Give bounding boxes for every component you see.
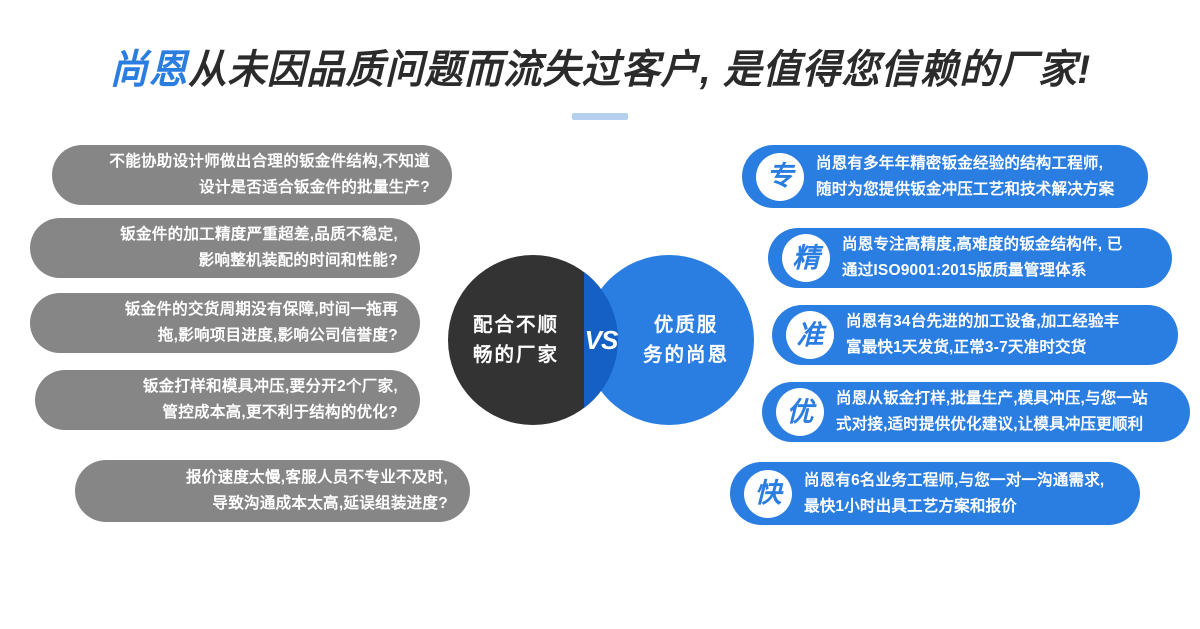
problem-pill-5: 报价速度太慢,客服人员不专业不及时, 导致沟通成本太高,延误组装进度? bbox=[75, 460, 470, 522]
vs-label: VS bbox=[584, 255, 618, 425]
problem-pill-2-line1: 钣金件的加工精度严重超差,品质不稳定, bbox=[120, 222, 398, 248]
problem-pill-5-text: 报价速度太慢,客服人员不专业不及时, 导致沟通成本太高,延误组装进度? bbox=[186, 465, 448, 517]
problem-pill-1: 不能协助设计师做出合理的钣金件结构,不知道 设计是否适合钣金件的批量生产? bbox=[52, 145, 452, 205]
advantage-circle-line1: 优质服 bbox=[654, 310, 719, 340]
problem-pill-5-line2: 导致沟通成本太高,延误组装进度? bbox=[186, 491, 448, 517]
advantage-pill-5: 快 尚恩有6名业务工程师,与您一对一沟通需求, 最快1小时出具工艺方案和报价 bbox=[730, 462, 1140, 525]
page-title-rest: 从未因品质问题而流失过客户, 是值得您信赖的厂家! bbox=[188, 48, 1091, 92]
advantage-badge-kuai-icon: 快 bbox=[744, 470, 792, 518]
advantage-pill-1-line2: 随时为您提供钣金冲压工艺和技术解决方案 bbox=[816, 177, 1114, 203]
poster-canvas: 尚恩从未因品质问题而流失过客户, 是值得您信赖的厂家! 不能协助设计师做出合理的… bbox=[0, 0, 1200, 629]
problem-pill-3-line1: 钣金件的交货周期没有保障,时间一拖再 bbox=[125, 297, 398, 323]
problem-pill-5-line1: 报价速度太慢,客服人员不专业不及时, bbox=[186, 465, 448, 491]
problem-pill-3: 钣金件的交货周期没有保障,时间一拖再 拖,影响项目进度,影响公司信誉度? bbox=[30, 293, 420, 353]
problem-pill-4-line1: 钣金打样和模具冲压,要分开2个厂家, bbox=[143, 374, 398, 400]
advantage-pill-1-text: 尚恩有多年年精密钣金经验的结构工程师, 随时为您提供钣金冲压工艺和技术解决方案 bbox=[816, 151, 1114, 203]
advantage-badge-jing-icon: 精 bbox=[782, 234, 830, 282]
page-title: 尚恩从未因品质问题而流失过客户, 是值得您信赖的厂家! bbox=[0, 48, 1200, 92]
advantage-pill-3-text: 尚恩有34台先进的加工设备,加工经验丰 富最快1天发货,正常3-7天准时交货 bbox=[846, 309, 1119, 361]
problem-pill-4-text: 钣金打样和模具冲压,要分开2个厂家, 管控成本高,更不利于结构的优化? bbox=[143, 374, 398, 426]
advantage-pill-3-line1: 尚恩有34台先进的加工设备,加工经验丰 bbox=[846, 309, 1119, 335]
advantage-pill-2-text: 尚恩专注高精度,高难度的钣金结构件, 已 通过ISO9001:2015版质量管理… bbox=[842, 232, 1122, 284]
advantage-pill-4-line2: 式对接,适时提供优化建议,让模具冲压更顺利 bbox=[836, 412, 1148, 438]
problem-pill-1-line1: 不能协助设计师做出合理的钣金件结构,不知道 bbox=[109, 149, 430, 175]
vs-venn-diagram: 配合不顺 畅的厂家 优质服 务的尚恩 VS bbox=[448, 255, 754, 425]
problem-pill-1-text: 不能协助设计师做出合理的钣金件结构,不知道 设计是否适合钣金件的批量生产? bbox=[109, 149, 430, 201]
problem-pill-1-line2: 设计是否适合钣金件的批量生产? bbox=[109, 175, 430, 201]
problem-pill-3-line2: 拖,影响项目进度,影响公司信誉度? bbox=[125, 323, 398, 349]
problem-pill-4-line2: 管控成本高,更不利于结构的优化? bbox=[143, 400, 398, 426]
advantage-pill-3-line2: 富最快1天发货,正常3-7天准时交货 bbox=[846, 335, 1119, 361]
advantage-badge-zhuan-icon: 专 bbox=[756, 153, 804, 201]
advantage-pill-4-line1: 尚恩从钣金打样,批量生产,模具冲压,与您一站 bbox=[836, 386, 1148, 412]
advantage-badge-you-icon: 优 bbox=[776, 388, 824, 436]
advantage-circle-line2: 务的尚恩 bbox=[643, 340, 729, 370]
advantage-pill-5-line1: 尚恩有6名业务工程师,与您一对一沟通需求, bbox=[804, 468, 1104, 494]
advantage-pill-4-text: 尚恩从钣金打样,批量生产,模具冲压,与您一站 式对接,适时提供优化建议,让模具冲… bbox=[836, 386, 1148, 438]
problem-circle-label: 配合不顺 畅的厂家 bbox=[450, 255, 582, 425]
advantage-pill-2: 精 尚恩专注高精度,高难度的钣金结构件, 已 通过ISO9001:2015版质量… bbox=[768, 228, 1172, 288]
problem-pill-2-text: 钣金件的加工精度严重超差,品质不稳定, 影响整机装配的时间和性能? bbox=[120, 222, 398, 274]
page-title-text: 尚恩从未因品质问题而流失过客户, 是值得您信赖的厂家! bbox=[109, 48, 1091, 92]
advantage-pill-1-line1: 尚恩有多年年精密钣金经验的结构工程师, bbox=[816, 151, 1114, 177]
problem-circle-line2: 畅的厂家 bbox=[473, 340, 559, 370]
advantage-pill-5-text: 尚恩有6名业务工程师,与您一对一沟通需求, 最快1小时出具工艺方案和报价 bbox=[804, 468, 1104, 520]
brand-name: 尚恩 bbox=[109, 48, 188, 92]
advantage-pill-3: 准 尚恩有34台先进的加工设备,加工经验丰 富最快1天发货,正常3-7天准时交货 bbox=[772, 305, 1178, 365]
advantage-pill-5-line2: 最快1小时出具工艺方案和报价 bbox=[804, 494, 1104, 520]
title-underline-rule bbox=[572, 113, 628, 120]
problem-pill-2-line2: 影响整机装配的时间和性能? bbox=[120, 248, 398, 274]
problem-pill-2: 钣金件的加工精度严重超差,品质不稳定, 影响整机装配的时间和性能? bbox=[30, 218, 420, 278]
problem-pill-4: 钣金打样和模具冲压,要分开2个厂家, 管控成本高,更不利于结构的优化? bbox=[35, 370, 420, 430]
problem-circle-line1: 配合不顺 bbox=[473, 310, 559, 340]
advantage-pill-2-line1: 尚恩专注高精度,高难度的钣金结构件, 已 bbox=[842, 232, 1122, 258]
advantage-circle-label: 优质服 务的尚恩 bbox=[620, 255, 752, 425]
advantage-badge-zhun-icon: 准 bbox=[786, 311, 834, 359]
advantage-pill-1: 专 尚恩有多年年精密钣金经验的结构工程师, 随时为您提供钣金冲压工艺和技术解决方… bbox=[742, 145, 1148, 208]
problem-pill-3-text: 钣金件的交货周期没有保障,时间一拖再 拖,影响项目进度,影响公司信誉度? bbox=[125, 297, 398, 349]
advantage-pill-4: 优 尚恩从钣金打样,批量生产,模具冲压,与您一站 式对接,适时提供优化建议,让模… bbox=[762, 382, 1190, 442]
advantage-pill-2-line2: 通过ISO9001:2015版质量管理体系 bbox=[842, 258, 1122, 284]
